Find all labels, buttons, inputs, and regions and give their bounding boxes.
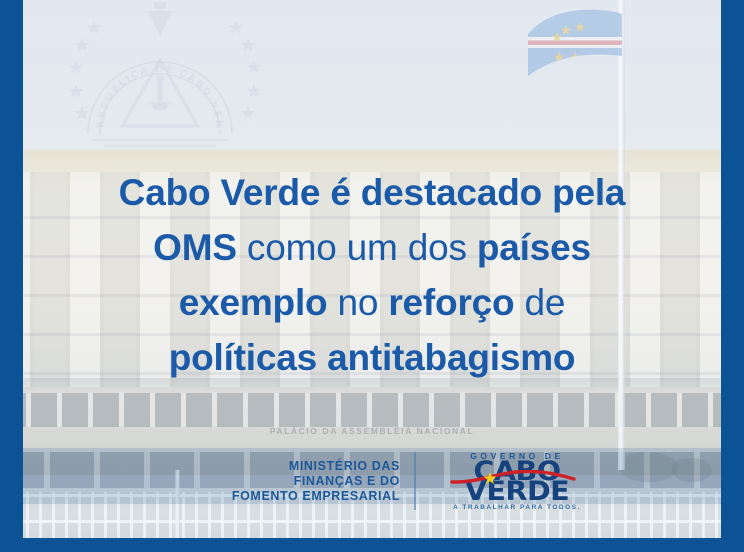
headline-seg-exemplo: exemplo (179, 282, 328, 323)
headline-seg-oms: OMS (153, 227, 237, 268)
headline-line-1: Cabo Verde é destacado pela (52, 165, 692, 220)
headline-seg: políticas antitabagismo (169, 337, 576, 378)
frame-border-right (721, 0, 744, 552)
gov-word-verde: VERDE (427, 482, 607, 502)
ministry-line-3: FOMENTO EMPRESARIAL (142, 489, 400, 504)
mezzanine-windows (0, 393, 744, 427)
republica-de-cabo-verde-emblem-icon: REPÚBLICA DE CABO VERDE (70, 2, 260, 152)
logo-lockup: MINISTÉRIO DAS FINANÇAS E DO FOMENTO EMP… (0, 452, 744, 510)
headline-seg: Cabo Verde é destacado pela (119, 172, 626, 213)
ministry-line-2: FINANÇAS E DO (142, 474, 400, 489)
headline-line-4: políticas antitabagismo (52, 330, 692, 385)
frame-border-left (0, 0, 23, 552)
poster: PALÁCIO DA ASSEMBLEIA NACIONAL (0, 0, 744, 552)
headline-seg: de (514, 282, 565, 323)
headline-seg: como um dos (237, 227, 477, 268)
fence-rail (0, 520, 744, 523)
frame-border-bottom (0, 538, 744, 552)
governo-de-cabo-verde-logo: GOVERNO DE CABO VERDE A TRABALHAR PARA T… (416, 451, 602, 511)
building-sign-text: PALÁCIO DA ASSEMBLEIA NACIONAL (0, 426, 744, 436)
ministry-line-1: MINISTÉRIO DAS (142, 459, 400, 474)
headline-line-2: OMS como um dos países (52, 220, 692, 275)
headline-line-3: exemplo no reforço de (52, 275, 692, 330)
cape-verde-flag-icon (528, 8, 624, 76)
headline-seg-reforco: reforço (388, 282, 514, 323)
gov-wordmark: CABO VERDE (432, 462, 602, 502)
headline-seg-paises: países (477, 227, 591, 268)
svg-text:REPÚBLICA DE CABO VERDE: REPÚBLICA DE CABO VERDE (70, 2, 224, 130)
headline: Cabo Verde é destacado pela OMS como um … (52, 165, 692, 385)
ministry-wordmark: MINISTÉRIO DAS FINANÇAS E DO FOMENTO EMP… (142, 459, 414, 504)
headline-seg: no (327, 282, 388, 323)
